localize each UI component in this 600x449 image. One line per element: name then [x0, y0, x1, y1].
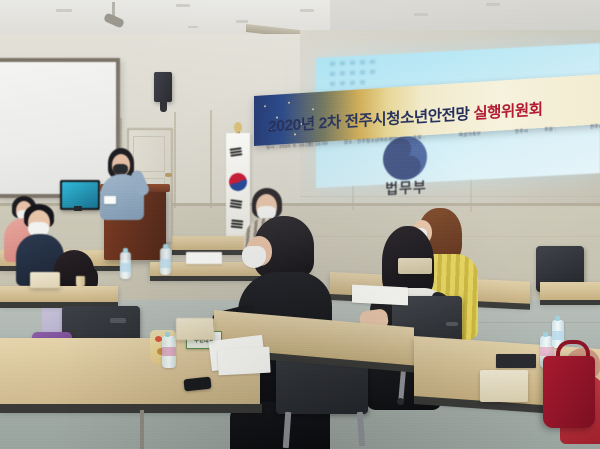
- banner-organizer: 전주시청소년상담복지센터: [590, 121, 600, 130]
- trigram-gon: [229, 198, 242, 210]
- dark-box: [496, 354, 536, 368]
- tissue-box: [30, 272, 60, 288]
- table-leg: [140, 410, 144, 449]
- water-bottle: [162, 336, 176, 368]
- chair-handle-slot: [110, 318, 126, 323]
- tissue-box: [176, 318, 214, 340]
- taegeuk-circle-icon: [226, 170, 249, 193]
- ceiling-vent: [300, 9, 314, 12]
- name-tag: [104, 196, 116, 204]
- whiteboard: [0, 58, 120, 198]
- water-bottle: [120, 252, 131, 279]
- wall-speaker: [154, 72, 172, 102]
- chair-wheel: [397, 398, 404, 405]
- ceiling-vent: [188, 26, 198, 28]
- water-bottle: [160, 248, 171, 275]
- banner-place: 장소 : 전주청소년자유센터: [344, 136, 397, 145]
- door-knob[interactable]: [165, 173, 172, 177]
- ceiling-vent: [56, 9, 72, 12]
- wall-panel-seam: [210, 110, 212, 208]
- monitor-screen: [62, 182, 98, 208]
- ceiling-vent: [236, 20, 248, 23]
- banner-organizer-label: 주관 :: [544, 126, 556, 133]
- door-panel: [133, 136, 165, 172]
- cup: [76, 276, 85, 287]
- trigram-gam: [230, 218, 243, 230]
- ceiling-vent: [486, 3, 500, 6]
- ceiling-vent: [414, 13, 428, 16]
- tissue-box: [398, 258, 432, 274]
- banner-host-label: 주최 :: [413, 135, 425, 142]
- meeting-room-photo: 법무부 2020년 2차 전주시청소년안전망 실행위원회 일시 : 2020. …: [0, 0, 600, 449]
- speaker-mount: [160, 100, 167, 112]
- banner-host-1: 여성가족부: [459, 131, 481, 138]
- chair-handle-slot: [446, 322, 458, 326]
- wall-seam: [300, 196, 600, 197]
- tissue-box: [480, 370, 528, 402]
- table-edge: [540, 300, 600, 305]
- table-edge: [0, 404, 262, 413]
- document-papers: [352, 285, 408, 306]
- face-mask: [242, 246, 266, 268]
- red-handbag: [543, 356, 595, 428]
- ceiling-vent: [176, 4, 190, 7]
- table-right-far: [540, 282, 600, 302]
- trigram-geon: [229, 146, 242, 158]
- document-papers: [217, 347, 270, 376]
- projected-ministry-label: 법무부: [366, 176, 446, 200]
- wall-panel-seam: [174, 112, 176, 208]
- banner-title-highlight: 실행위원회: [473, 101, 542, 122]
- flag-finial: [234, 122, 242, 132]
- monitor-stand: [74, 206, 82, 211]
- korean-flag: [226, 133, 250, 239]
- banner-datetime: 일시 : 2020. 6. 15.(월) 15:00: [266, 141, 328, 151]
- document-papers: [186, 252, 222, 264]
- banner-host-2: 전주시: [515, 128, 528, 135]
